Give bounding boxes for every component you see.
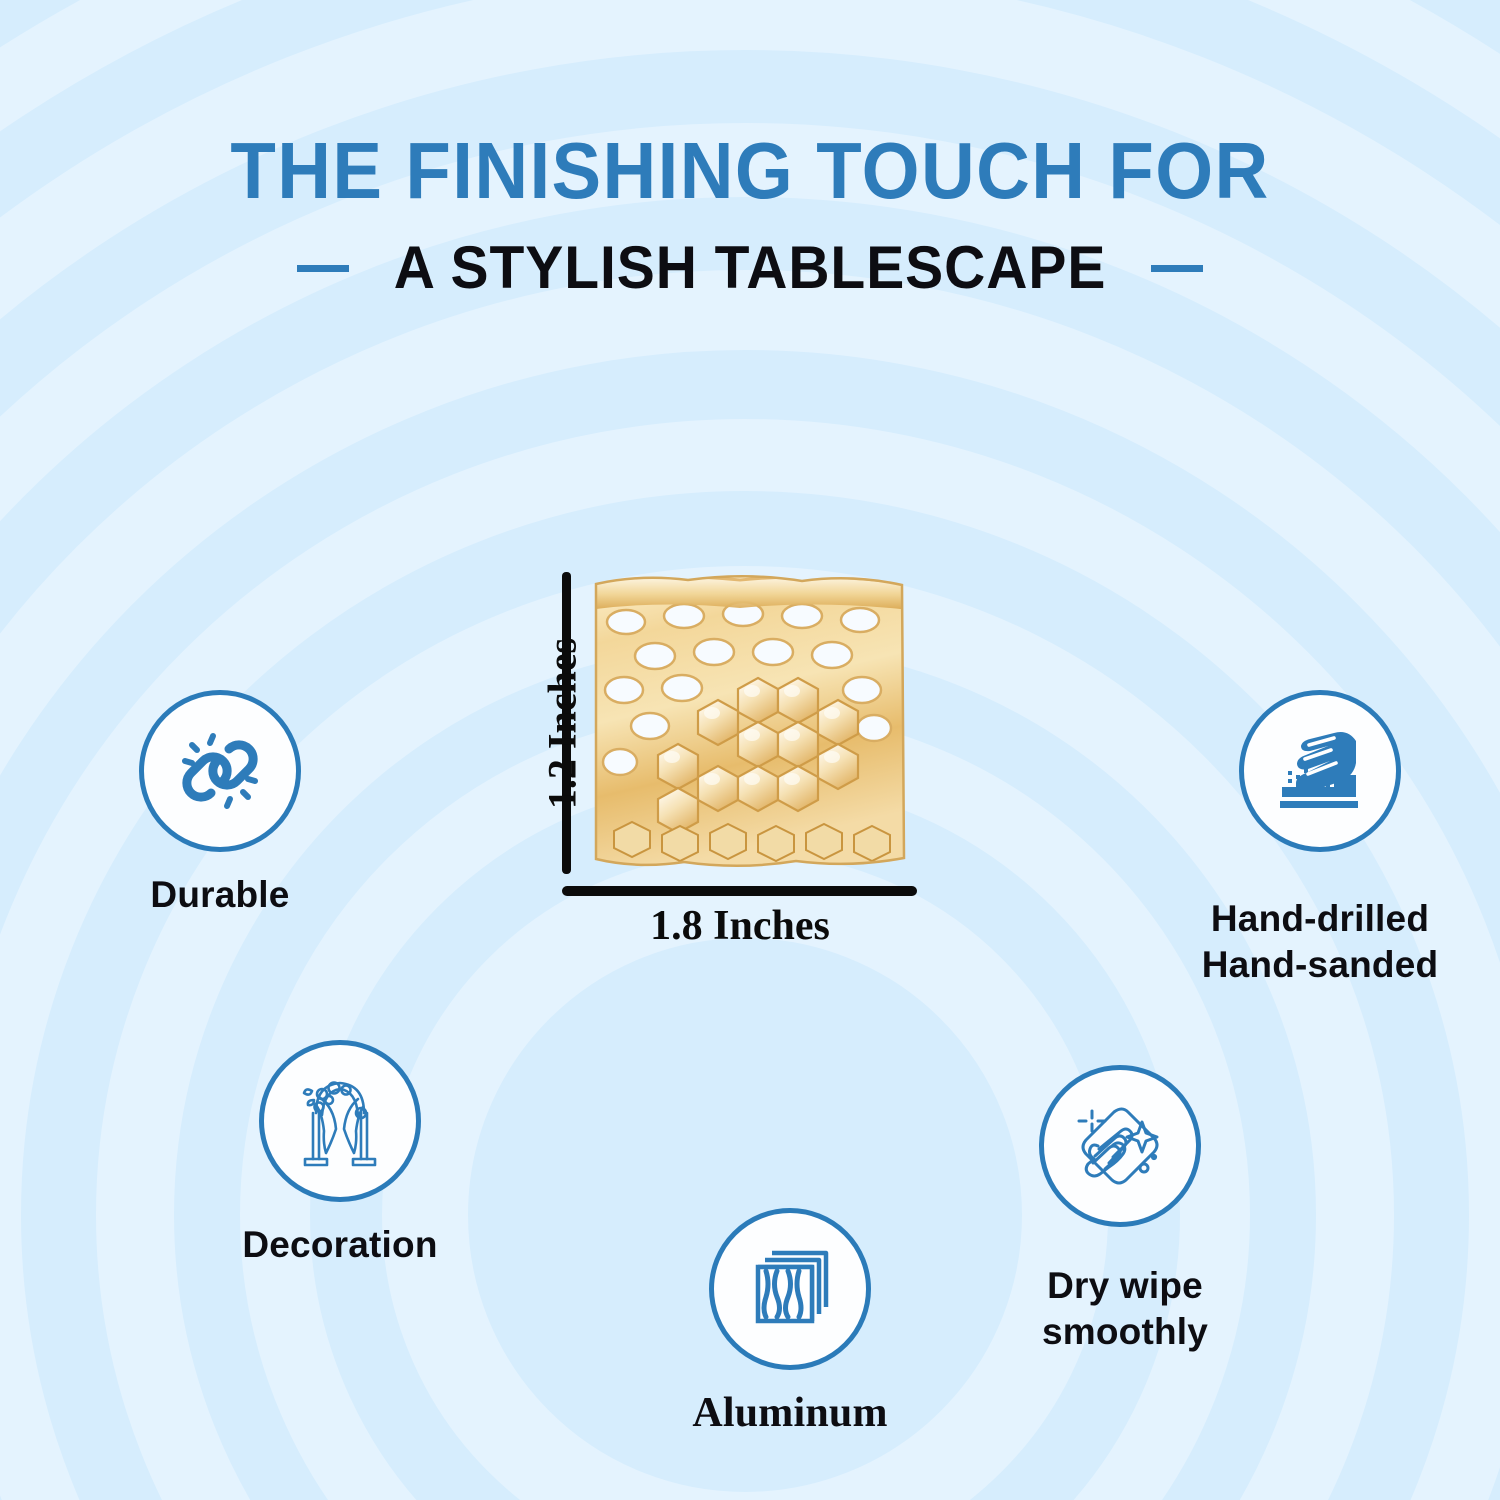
feature-drywipe[interactable]: Dry wipe smoothly [1040, 1065, 1200, 1227]
right-dash-icon [1151, 265, 1203, 272]
feature-icon-circle-drywipe [1039, 1065, 1201, 1227]
product-image-honeycomb-napkin-ring [580, 570, 920, 875]
chain-link-icon [168, 719, 272, 823]
feature-icon-circle-aluminum [709, 1208, 871, 1370]
product-dimensions-block: 1.2 Inches [500, 560, 960, 960]
feature-handmade[interactable]: Hand-drilled Hand-sanded [1230, 690, 1410, 852]
headline-block: THE FINISHING TOUCH FOR A STYLISH TABLES… [0, 128, 1500, 300]
width-rule [562, 886, 917, 896]
subtitle-row: A STYLISH TABLESCAPE [0, 236, 1500, 300]
feature-icon-circle-handmade [1239, 690, 1401, 852]
feature-label-decoration: Decoration [242, 1222, 437, 1268]
feature-icon-circle-durable [139, 690, 301, 852]
feature-label-aluminum: Aluminum [692, 1390, 887, 1436]
feature-label-handmade: Hand-drilled Hand-sanded [1120, 896, 1500, 988]
metal-sheets-icon [740, 1239, 840, 1339]
wiping-cloth-icon [1068, 1094, 1172, 1198]
height-label: 1.2 Inches [539, 624, 586, 824]
page-subtitle: A STYLISH TABLESCAPE [394, 236, 1107, 300]
width-label: 1.8 Inches [540, 902, 940, 950]
feature-icon-circle-decoration [259, 1040, 421, 1202]
wedding-arch-icon [286, 1067, 394, 1175]
feature-label-drywipe: Dry wipe smoothly [1000, 1263, 1250, 1355]
infographic-canvas: THE FINISHING TOUCH FOR A STYLISH TABLES… [0, 0, 1500, 1500]
feature-aluminum[interactable]: Aluminum [665, 1208, 915, 1436]
feature-durable[interactable]: Durable [95, 690, 345, 918]
feature-decoration[interactable]: Decoration [215, 1040, 465, 1268]
feature-label-durable: Durable [150, 872, 289, 918]
page-title: THE FINISHING TOUCH FOR [53, 128, 1448, 214]
hand-sanding-icon [1268, 719, 1372, 823]
left-dash-icon [297, 265, 349, 272]
